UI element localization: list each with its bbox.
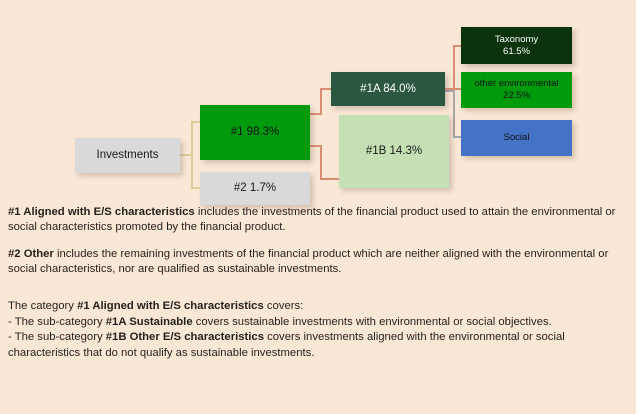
node-investments[interactable]: Investments	[75, 138, 180, 173]
note-paragraph-1: #1 Aligned with E/S characteristics incl…	[8, 205, 624, 236]
node-social-label: Social	[461, 132, 572, 144]
node-other-environmental-title: other environmental	[475, 78, 559, 89]
node-taxonomy-title: Taxonomy	[495, 34, 538, 45]
note-paragraph-5: - The sub-category #1B Other E/S charact…	[8, 330, 624, 361]
explanatory-notes: #1 Aligned with E/S characteristics incl…	[8, 205, 624, 361]
note-paragraph-3: The category #1 Aligned with E/S charact…	[8, 299, 624, 314]
note-4-lead: - The sub-category	[8, 316, 106, 328]
note-1-term: #1 Aligned with E/S characteristics	[8, 206, 195, 218]
connector-node1-spine-lower	[320, 145, 322, 180]
node-other-environmental-value: 22.5%	[503, 90, 530, 101]
node-1a-sustainable[interactable]: #1A 84.0%	[331, 72, 445, 106]
node-1b-other-es-characteristics[interactable]: #1B 14.3%	[339, 115, 449, 188]
investment-allocation-tree: Investments #1 98.3% #2 1.7% #1A 84.0% #…	[0, 0, 636, 205]
node-other-environmental-label: other environmental 22.5%	[461, 78, 572, 101]
note-2-body: includes the remaining investments of th…	[8, 248, 608, 275]
node-1-aligned-with-es-characteristics[interactable]: #1 98.3%	[200, 105, 310, 160]
note-3-body: covers:	[264, 300, 304, 312]
note-5-lead: - The sub-category	[8, 331, 106, 343]
node-taxonomy[interactable]: Taxonomy 61.5%	[461, 27, 572, 64]
note-paragraph-2: #2 Other includes the remaining investme…	[8, 247, 624, 278]
note-4-term: #1A Sustainable	[106, 316, 193, 328]
node-investments-label: Investments	[75, 148, 180, 162]
note-2-term: #2 Other	[8, 248, 54, 260]
node-2-label: #2 1.7%	[200, 181, 310, 195]
connector-node1a-spine	[453, 45, 455, 90]
connector-investments-spine	[191, 121, 193, 188]
node-other-environmental[interactable]: other environmental 22.5%	[461, 72, 572, 108]
note-4-body: covers sustainable investments with envi…	[193, 316, 552, 328]
node-taxonomy-label: Taxonomy 61.5%	[461, 34, 572, 57]
note-paragraph-4: - The sub-category #1A Sustainable cover…	[8, 315, 624, 330]
node-social[interactable]: Social	[461, 120, 572, 156]
node-2-other[interactable]: #2 1.7%	[200, 172, 310, 205]
node-1-label: #1 98.3%	[200, 125, 310, 139]
connector-node1-spine-upper	[320, 88, 322, 115]
connector-social-spine	[453, 90, 455, 138]
sfdr-allocation-diagram-page: Investments #1 98.3% #2 1.7% #1A 84.0% #…	[0, 0, 636, 414]
node-1b-label: #1B 14.3%	[339, 144, 449, 158]
note-3-term: #1 Aligned with E/S characteristics	[77, 300, 264, 312]
notes-spacer	[8, 288, 624, 299]
connector-node1-to-node1b	[320, 178, 340, 180]
note-5-term: #1B Other E/S characteristics	[106, 331, 264, 343]
note-3-lead: The category	[8, 300, 77, 312]
node-taxonomy-value: 61.5%	[503, 46, 530, 57]
node-1a-label: #1A 84.0%	[331, 82, 445, 96]
